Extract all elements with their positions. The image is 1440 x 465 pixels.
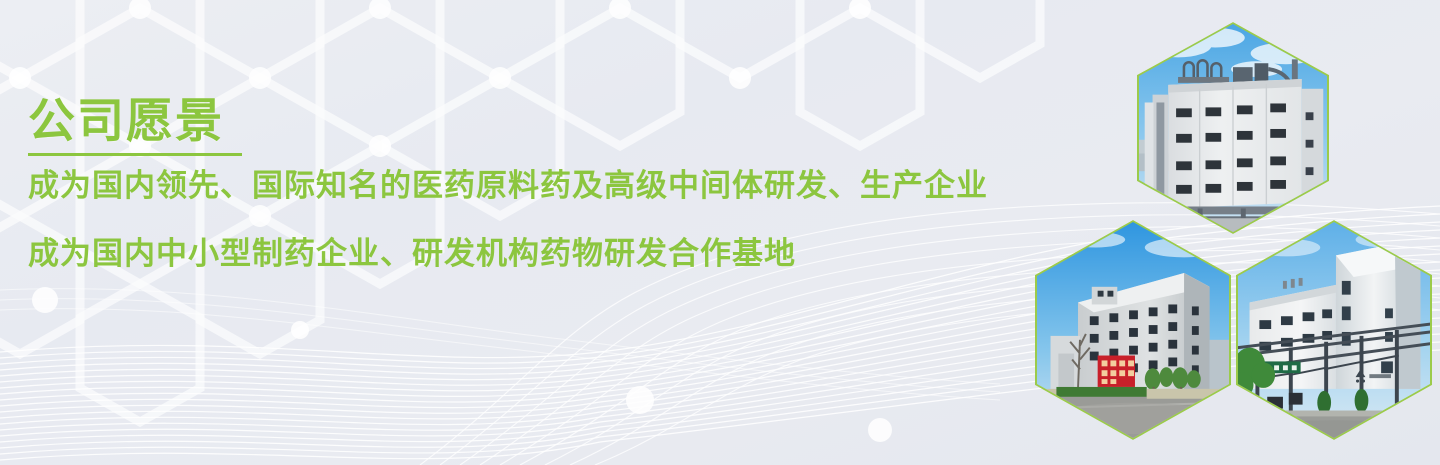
vision-statement-line-1: 成为国内领先、国际知名的医药原料药及高级中间体研发、生产企业 [28, 165, 1068, 207]
hex-image-right [1238, 222, 1430, 438]
pharmaceutical-production-building-photo[interactable] [1137, 22, 1329, 234]
title-underline-rule [28, 153, 242, 156]
page-title: 公司愿景 [28, 96, 1068, 147]
company-vision-banner: 公司愿景 成为国内领先、国际知名的医药原料药及高级中间体研发、生产企业 成为国内… [0, 0, 1440, 465]
vision-text-block: 公司愿景 成为国内领先、国际知名的医药原料药及高级中间体研发、生产企业 成为国内… [28, 96, 1068, 275]
workshop-pipe-rack-photo[interactable] [1236, 220, 1432, 440]
hex-image-top [1139, 24, 1327, 232]
vision-statement-line-2: 成为国内中小型制药企业、研发机构药物研发合作基地 [28, 233, 1068, 275]
